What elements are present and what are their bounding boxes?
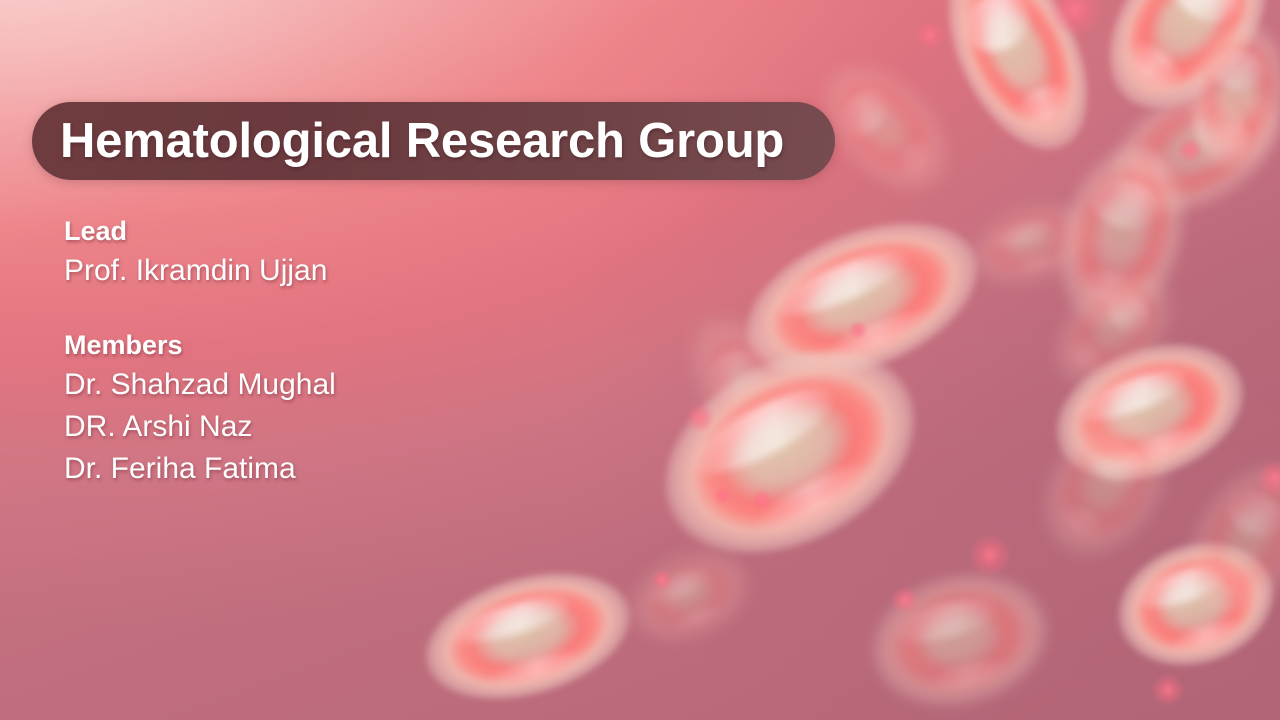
title-banner: Hematological Research Group — [32, 102, 835, 180]
lead-name: Prof. Ikramdin Ujjan — [64, 250, 624, 292]
member-name: Dr. Feriha Fatima — [64, 448, 624, 490]
presentation-slide: Hematological Research Group Lead Prof. … — [0, 0, 1280, 720]
page-title: Hematological Research Group — [60, 113, 784, 169]
lead-label: Lead — [64, 212, 624, 250]
section-spacer — [64, 292, 624, 326]
member-name: DR. Arshi Naz — [64, 406, 624, 448]
member-name: Dr. Shahzad Mughal — [64, 364, 624, 406]
team-roster: Lead Prof. Ikramdin Ujjan Members Dr. Sh… — [64, 212, 624, 490]
members-label: Members — [64, 326, 624, 364]
